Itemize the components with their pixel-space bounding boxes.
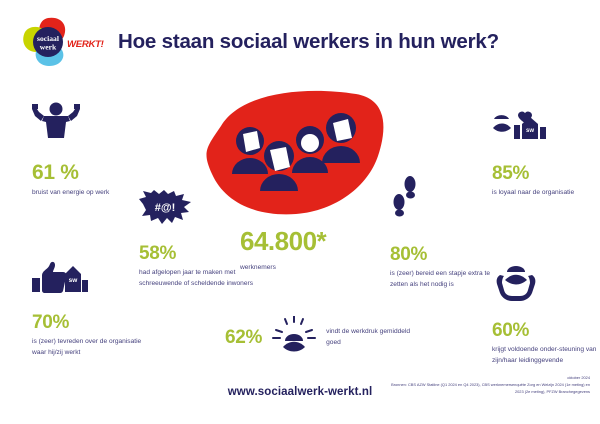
footnote-date: oktober 2024	[390, 374, 590, 381]
header: sociaal werk WERKT! Hoe staan sociaal we…	[0, 0, 600, 82]
supporting-hands-person-icon	[492, 262, 600, 307]
stat-description: is (zeer) bereid een stapje extra te zet…	[390, 269, 502, 291]
footnote-sources: Bronnen: CBS AZW Statline (Q1 2024 en Q4…	[391, 382, 590, 394]
stat-description: is loyaal naar de organisatie	[492, 188, 600, 199]
stat-werkdruk: 62% vindt de werkdruk gemiddeld goed	[225, 316, 435, 359]
svg-text:sw: sw	[69, 277, 79, 284]
person-heart-building-icon: sw	[492, 106, 600, 147]
stat-value: 64.800*	[240, 228, 370, 254]
stat-description: krijgt voldoende onder-steuning van zijn…	[492, 345, 600, 367]
sociaal-werk-werkt-logo[interactable]: sociaal werk WERKT!	[18, 16, 110, 68]
stat-description: vindt de werkdruk gemiddeld goed	[326, 327, 421, 349]
thumbs-up-building-icon: sw	[32, 260, 154, 299]
stat-description: is (zeer) tevreden over de organisatie w…	[32, 337, 152, 359]
stat-tevreden: sw 70% is (zeer) tevreden over de organi…	[32, 260, 154, 359]
flexing-person-icon	[32, 100, 152, 145]
logo-tagline: WERKT!	[67, 39, 105, 50]
stat-value: 80%	[390, 245, 502, 264]
logo-word-bottom: werk	[40, 43, 57, 52]
stat-value: 60%	[492, 321, 600, 340]
stat-value: 70%	[32, 313, 154, 332]
stat-value: 62%	[225, 328, 262, 347]
footsteps-icon	[390, 176, 502, 227]
svg-text:sw: sw	[526, 128, 534, 134]
shining-person-icon	[272, 316, 316, 359]
infographic-root: sociaal werk WERKT! Hoe staan sociaal we…	[0, 0, 600, 424]
svg-text:#@!: #@!	[155, 202, 176, 214]
stat-energie: 61 % bruist van energie op werk	[32, 100, 152, 199]
stat-werknemers: 64.800* werknemers	[240, 228, 370, 274]
stat-extra: 80% is (zeer) bereid een stapje extra te…	[390, 176, 502, 291]
page-title: Hoe staan sociaal werkers in hun werk?	[118, 30, 499, 54]
footnote: oktober 2024 Bronnen: CBS AZW Statline (…	[390, 374, 590, 396]
stat-loyaal: sw 85% is loyaal naar de organisatie	[492, 106, 600, 199]
swear-speech-bubble-icon: #@!	[139, 190, 261, 231]
stat-value: 61 %	[32, 162, 152, 183]
stat-ondersteuning: 60% krijgt voldoende onder-steuning van …	[492, 262, 600, 367]
stat-description: werknemers	[240, 263, 360, 274]
stat-value: 85%	[492, 164, 600, 183]
stat-description: bruist van energie op werk	[32, 188, 152, 199]
logo-svg: sociaal werk WERKT!	[18, 16, 110, 68]
